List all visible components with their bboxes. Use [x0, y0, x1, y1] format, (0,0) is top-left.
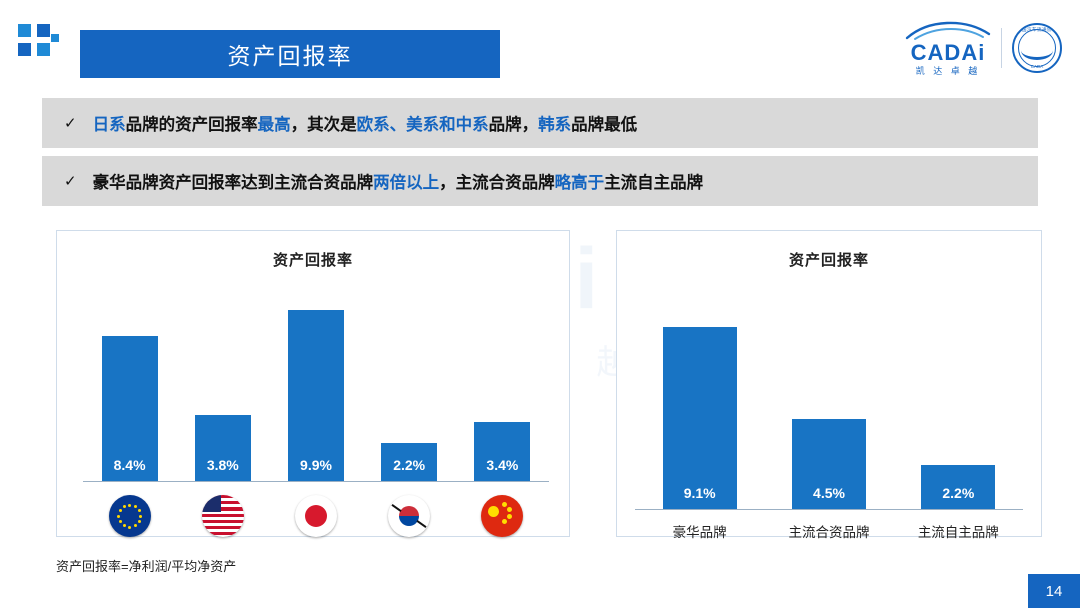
chart-title-left: 资产回报率 — [57, 249, 569, 270]
bullet-segment: 欧系、美系和中系 — [357, 116, 489, 134]
bullet-text-2: 豪华品牌资产回报率达到主流合资品牌两倍以上，主流合资品牌略高于主流自主品牌 — [93, 169, 704, 193]
eu-flag-icon — [109, 495, 151, 537]
x-axis-label: 主流合资品牌 — [764, 521, 893, 541]
association-seal-icon: 中国汽车流通协会 CADA — [1012, 23, 1062, 73]
us-flag-icon — [202, 495, 244, 537]
flag-axis-labels — [83, 495, 549, 537]
bullet-panel: ✓ 日系品牌的资产回报率最高，其次是欧系、美系和中系品牌，韩系品牌最低 ✓ 豪华… — [42, 98, 1038, 214]
bullet-segment: ，其次是 — [291, 116, 357, 134]
flag-cell — [456, 495, 549, 537]
brand-logo: CADAi 凯 达 卓 越 中国汽车流通协会 CADA — [905, 20, 1062, 76]
bullet-segment: 品牌， — [489, 116, 539, 134]
deck-logo-mark — [18, 24, 64, 70]
bullet-text-1: 日系品牌的资产回报率最高，其次是欧系、美系和中系品牌，韩系品牌最低 — [93, 111, 638, 135]
bullet-segment: 最高 — [258, 116, 291, 134]
page-number: 14 — [1028, 574, 1080, 608]
bullet-segment: ，主流合资品牌 — [439, 174, 555, 192]
bullet-segment: 主流自主品牌 — [604, 174, 703, 192]
footnote: 资产回报率=净利润/平均净资产 — [56, 556, 236, 575]
bar: 8.4% — [102, 336, 158, 481]
bar-value-label: 9.1% — [663, 485, 737, 501]
bar: 3.8% — [195, 415, 251, 481]
brand-subtitle: 凯 达 卓 越 — [916, 67, 981, 76]
bar: 3.4% — [474, 422, 530, 481]
chart-card-by-segment: 资产回报率 9.1%4.5%2.2%豪华品牌主流合资品牌主流自主品牌 — [616, 230, 1042, 537]
flag-cell — [83, 495, 176, 537]
chart-plot-left: 8.4%3.8%9.9%2.2%3.4% — [57, 281, 569, 536]
bullet-segment: 日系 — [93, 116, 126, 134]
bar-value-label: 3.4% — [474, 457, 530, 473]
x-axis-label: 主流自主品牌 — [894, 521, 1023, 541]
bullet-segment: 豪华品牌资产回报率达到主流合资品牌 — [93, 174, 374, 192]
bar-value-label: 2.2% — [381, 457, 437, 473]
bar: 2.2% — [921, 465, 995, 509]
bullet-segment: 韩系 — [538, 116, 571, 134]
bullet-item-1: ✓ 日系品牌的资产回报率最高，其次是欧系、美系和中系品牌，韩系品牌最低 — [42, 98, 1038, 148]
x-axis-label: 豪华品牌 — [635, 521, 764, 541]
bar-value-label: 9.9% — [288, 457, 344, 473]
x-axis — [635, 509, 1023, 510]
flag-cell — [176, 495, 269, 537]
bar: 4.5% — [792, 419, 866, 509]
bar: 9.9% — [288, 310, 344, 481]
x-axis — [83, 481, 549, 482]
bar-value-label: 2.2% — [921, 485, 995, 501]
car-silhouette-icon — [905, 20, 991, 42]
bullet-segment: 品牌的资产回报率 — [126, 116, 258, 134]
bar: 9.1% — [663, 327, 737, 509]
jp-flag-icon — [295, 495, 337, 537]
bar-value-label: 4.5% — [792, 485, 866, 501]
chart-title-right: 资产回报率 — [617, 249, 1041, 270]
slide-title-bar: 资产回报率 — [80, 30, 500, 78]
flag-cell — [269, 495, 362, 537]
cn-flag-icon — [481, 495, 523, 537]
page-title: 资产回报率 — [228, 37, 353, 71]
seal-top-text: 中国汽车流通协会 — [1014, 27, 1060, 33]
x-axis-labels: 豪华品牌主流合资品牌主流自主品牌 — [635, 521, 1023, 541]
chart-card-by-origin: 资产回报率 8.4%3.8%9.9%2.2%3.4% — [56, 230, 570, 537]
flag-cell — [363, 495, 456, 537]
check-icon: ✓ — [64, 172, 77, 190]
cadai-logo: CADAi 凯 达 卓 越 — [905, 20, 991, 76]
chart-plot-right: 9.1%4.5%2.2%豪华品牌主流合资品牌主流自主品牌 — [617, 281, 1041, 536]
bullet-item-2: ✓ 豪华品牌资产回报率达到主流合资品牌两倍以上，主流合资品牌略高于主流自主品牌 — [42, 156, 1038, 206]
bar-value-label: 8.4% — [102, 457, 158, 473]
bullet-segment: 略高于 — [555, 174, 605, 192]
bar-value-label: 3.8% — [195, 457, 251, 473]
kr-flag-icon — [388, 495, 430, 537]
bar: 2.2% — [381, 443, 437, 481]
seal-bottom-text: CADA — [1014, 64, 1060, 69]
brand-name: CADAi — [911, 42, 986, 64]
bullet-segment: 两倍以上 — [373, 174, 439, 192]
brand-divider — [1001, 28, 1002, 68]
check-icon: ✓ — [64, 114, 77, 132]
bullet-segment: 品牌最低 — [571, 116, 637, 134]
